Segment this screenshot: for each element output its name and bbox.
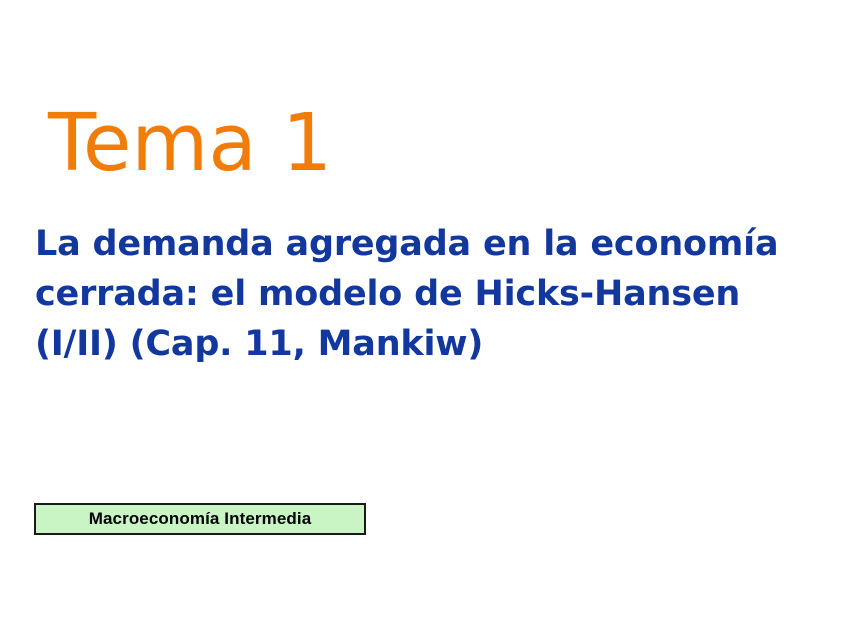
slide-canvas: Tema 1 La demanda agregada en la economí… [0,0,848,636]
subtitle-line-1: La demanda agregada en la economía [35,219,825,269]
subtitle-line-3: (I/II) (Cap. 11, Mankiw) [35,319,825,369]
subtitle-line-2: cerrada: el modelo de Hicks-Hansen [35,269,825,319]
course-label-text: Macroeconomía Intermedia [89,509,312,529]
course-label-box: Macroeconomía Intermedia [34,503,366,535]
page-title: Tema 1 [48,104,332,183]
slide-subtitle: La demanda agregada en la economía cerra… [35,219,825,369]
